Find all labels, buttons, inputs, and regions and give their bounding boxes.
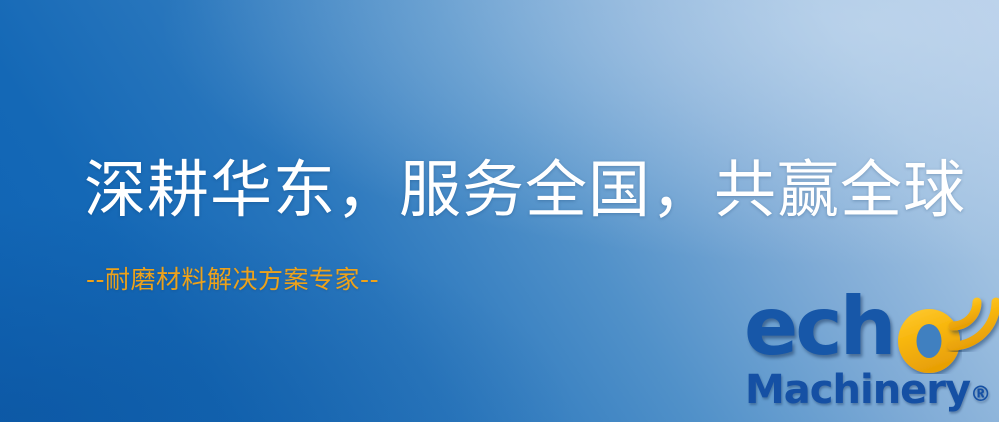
page-title: 深耕华东，服务全国，共赢全球 (84, 152, 966, 228)
logo-tagline: Machinery® (745, 370, 991, 410)
echo-wave-arcs-icon (940, 290, 999, 352)
banner-subtitle: --耐磨材料解决方案专家-- (86, 264, 379, 296)
company-logo[interactable]: ech (744, 294, 999, 418)
registered-trademark-icon: ® (970, 382, 991, 406)
promo-banner: 深耕华东，服务全国，共赢全球 --耐磨材料解决方案专家-- ech (0, 0, 999, 422)
logo-tagline-text: Machinery (745, 367, 970, 413)
logo-wordmark-ech-text: ech (744, 287, 894, 367)
logo-wordmark: ech (744, 294, 999, 374)
